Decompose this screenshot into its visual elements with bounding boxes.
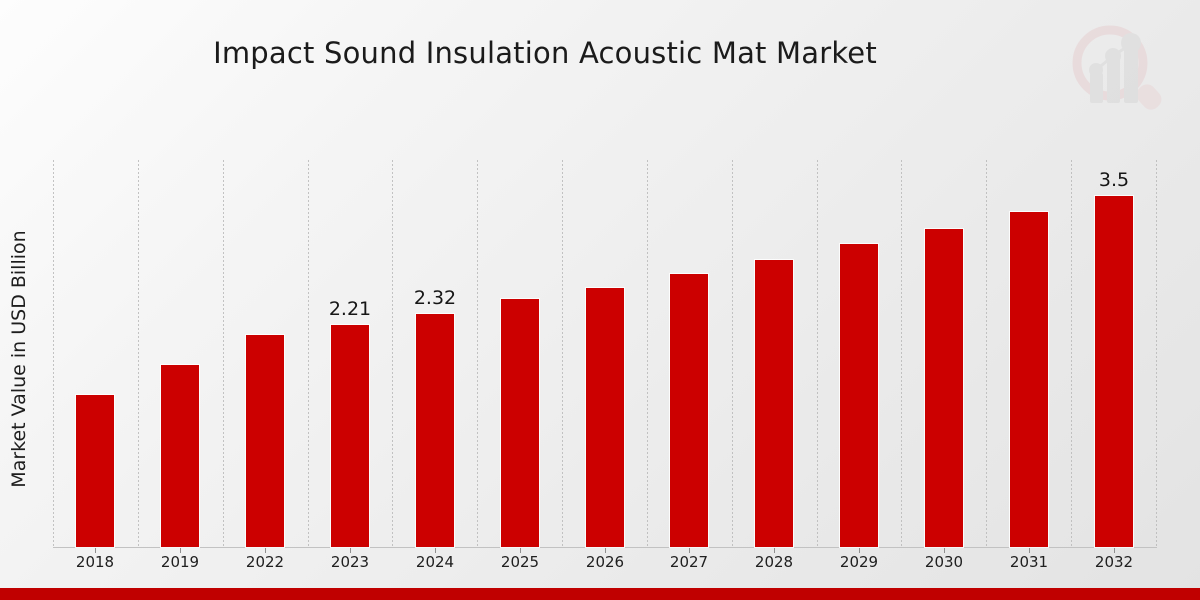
brand-logo (1059, 18, 1167, 118)
chart-canvas: Impact Sound Insulation Acoustic Mat Mar… (0, 0, 1200, 600)
gridline (986, 160, 987, 547)
x-tick-label-2029: 2029 (819, 553, 899, 571)
gridline (817, 160, 818, 547)
gridline (901, 160, 902, 547)
bar-value-label-2024: 2.32 (400, 287, 470, 309)
gridline (308, 160, 309, 547)
bar-2024[interactable] (416, 314, 454, 547)
bar-2022[interactable] (246, 335, 284, 547)
x-tick-label-2030: 2030 (904, 553, 984, 571)
gridline (223, 160, 224, 547)
x-tick-label-2032: 2032 (1074, 553, 1154, 571)
chart-title: Impact Sound Insulation Acoustic Mat Mar… (0, 36, 1090, 70)
gridline (138, 160, 139, 547)
gridline (562, 160, 563, 547)
bar-2027[interactable] (670, 274, 708, 547)
bar-2026[interactable] (586, 288, 624, 547)
bar-2028[interactable] (755, 260, 793, 547)
bar-2031[interactable] (1010, 212, 1048, 547)
gridline (477, 160, 478, 547)
bar-value-label-2032: 3.5 (1079, 169, 1149, 191)
bar-2019[interactable] (161, 365, 199, 547)
x-tick-label-2024: 2024 (395, 553, 475, 571)
bar-2032[interactable] (1095, 196, 1133, 547)
gridline (1071, 160, 1072, 547)
market-research-magnifier-icon (1059, 18, 1167, 118)
bar-2018[interactable] (76, 395, 114, 547)
bar-2030[interactable] (925, 229, 963, 547)
x-tick-label-2026: 2026 (565, 553, 645, 571)
x-tick-label-2025: 2025 (480, 553, 560, 571)
gridline (53, 160, 54, 547)
gridline (647, 160, 648, 547)
x-tick-label-2018: 2018 (55, 553, 135, 571)
x-tick-label-2028: 2028 (734, 553, 814, 571)
footer-bar (0, 588, 1200, 600)
x-tick-label-2019: 2019 (140, 553, 220, 571)
x-tick-label-2023: 2023 (310, 553, 390, 571)
bar-2025[interactable] (501, 299, 539, 547)
bar-value-label-2023: 2.21 (315, 298, 385, 320)
gridline (1156, 160, 1157, 547)
gridline (392, 160, 393, 547)
gridline (732, 160, 733, 547)
x-tick-label-2031: 2031 (989, 553, 1069, 571)
bar-2029[interactable] (840, 244, 878, 547)
x-tick-label-2027: 2027 (649, 553, 729, 571)
bar-2023[interactable] (331, 325, 369, 547)
x-tick-label-2022: 2022 (225, 553, 305, 571)
y-axis-title: Market Value in USD Billion (8, 159, 30, 559)
